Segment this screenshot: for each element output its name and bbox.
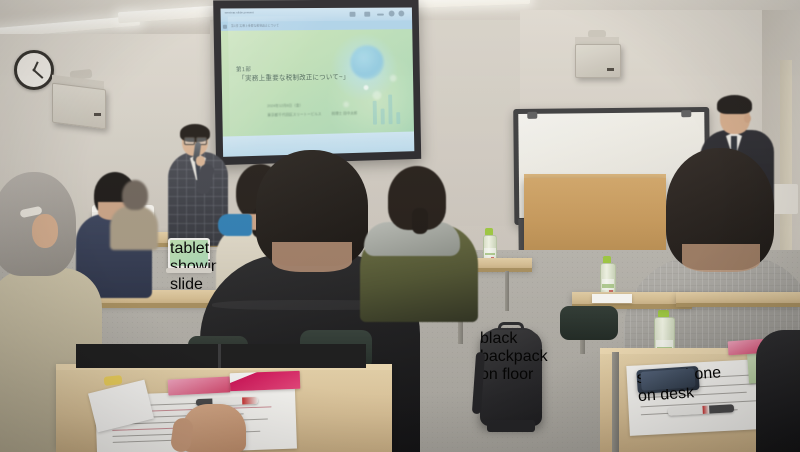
attendee-hooded [360,166,478,322]
ceiling-speaker-right [575,44,621,78]
browser-url-text: seminar.slide.present [225,11,254,14]
bottle-label-accent [602,284,613,287]
clock-center [33,69,36,72]
whiteboard-clip [527,112,537,119]
desk-leg [505,271,509,311]
green-tea-bottle[interactable] [483,228,495,262]
smartphone-screen[interactable] [640,368,695,391]
chair[interactable] [756,330,800,452]
bottle-label-accent [485,253,495,256]
attendee-ponytail-tail [412,208,428,234]
pink-flyer[interactable] [168,376,231,395]
glasses-icon [184,137,195,145]
handout[interactable] [592,294,632,303]
staff-hair [717,95,752,114]
attendee-neck [682,244,760,272]
attendee-ear [32,214,58,248]
attendee-jacket [110,206,158,250]
whiteboard-clip [681,110,691,117]
staff-ear [744,114,751,123]
back-icon[interactable] [223,24,227,28]
attendee-far-beige [110,180,158,250]
wall-clock [14,50,54,90]
projection-screen: seminar.slide.present 第1部 実務上重要な税制改正について [213,0,421,165]
desk-leg [612,352,619,452]
desk-divider [218,344,221,368]
screen-glare [228,15,414,157]
backpack-base [487,420,535,432]
speaker-label [94,113,101,116]
green-tea-bottle[interactable] [600,256,614,296]
ceiling-speaker-left [52,83,106,130]
speaker-label [607,68,614,71]
chair[interactable] [560,306,618,340]
pink-flyer[interactable] [230,371,301,391]
desk-modesty-panel [76,344,366,368]
screen-surface: seminar.slide.present 第1部 実務上重要な税制改正について [221,8,415,157]
seminar-room-photo: seminar.slide.present 第1部 実務上重要な税制改正について [0,0,800,452]
eraser[interactable] [104,375,123,386]
attendee-neck [272,242,352,272]
desk-edge [676,303,800,307]
attendee-hair [122,180,148,210]
backpack[interactable]: black backpack on floor [480,330,542,426]
